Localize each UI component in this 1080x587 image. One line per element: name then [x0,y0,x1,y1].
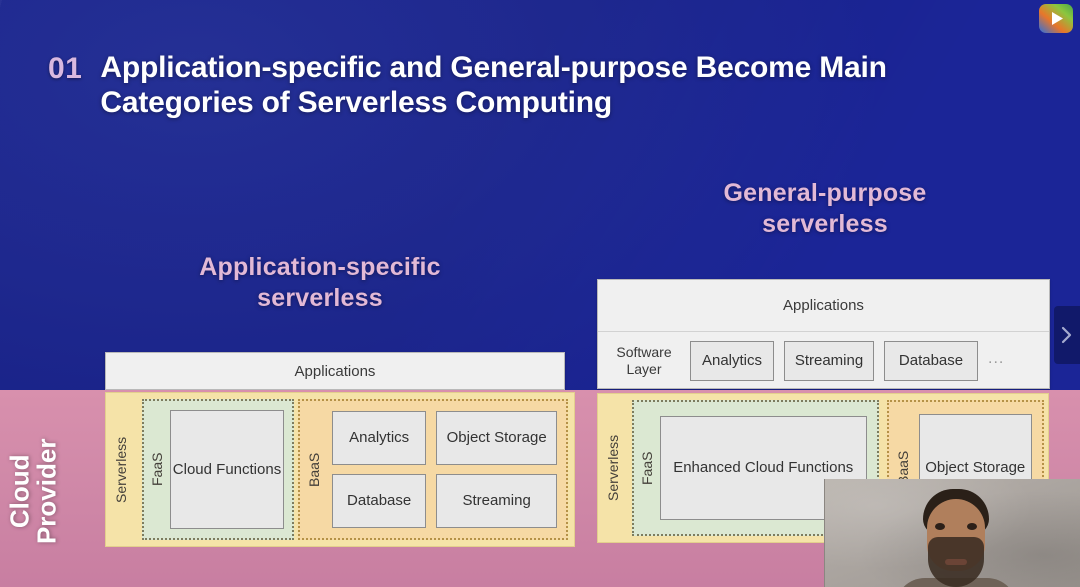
service-database: Database [332,474,426,528]
slide-number: 01 [48,50,82,85]
service-streaming: Streaming [436,474,557,528]
presenter-mouth [945,559,967,565]
next-slide-button[interactable] [1054,306,1080,364]
presenter-webcam[interactable] [824,479,1080,587]
left-serverless-container: Serverless FaaS Cloud Functions BaaS Ana… [105,392,575,547]
software-service-database: Database [884,341,978,381]
caption-general-purpose: General-purpose serverless [665,178,985,239]
service-object-storage: Object Storage [436,411,557,465]
caption-application-specific: Application-specific serverless [160,252,480,313]
right-serverless-label: Serverless [598,394,628,542]
right-faas-label: FaaS [634,402,660,534]
presenter-eye-left [935,523,945,530]
software-services-ellipsis: ... [988,350,1004,372]
service-analytics: Analytics [332,411,426,465]
software-service-streaming: Streaming [784,341,874,381]
left-baas-label: BaaS [300,401,328,538]
left-baas-service-grid: Analytics Object Storage Database Stream… [328,401,566,538]
left-serverless-label: Serverless [106,393,136,546]
right-software-layer-row: Software Layer Analytics Streaming Datab… [598,332,1049,389]
left-faas-container: FaaS Cloud Functions [142,399,294,540]
software-layer-label: Software Layer [608,344,680,378]
software-service-analytics: Analytics [690,341,774,381]
page-title: Application-specific and General-purpose… [100,50,930,121]
play-logo-icon[interactable] [1038,3,1074,34]
left-baas-container: BaaS Analytics Object Storage Database S… [298,399,568,540]
right-applications-label: Applications [598,280,1049,332]
chevron-right-icon [1061,326,1073,344]
right-applications-panel: Applications Software Layer Analytics St… [597,279,1050,389]
left-applications-bar: Applications [105,352,565,390]
slide-header: 01 Application-specific and General-purp… [48,50,990,121]
service-cloud-functions: Cloud Functions [170,410,284,529]
slide-canvas: 01 Application-specific and General-purp… [0,0,1080,587]
cloud-provider-label: Cloud Provider [7,411,62,571]
presenter-eye-right [967,523,977,530]
left-faas-label: FaaS [144,401,170,538]
